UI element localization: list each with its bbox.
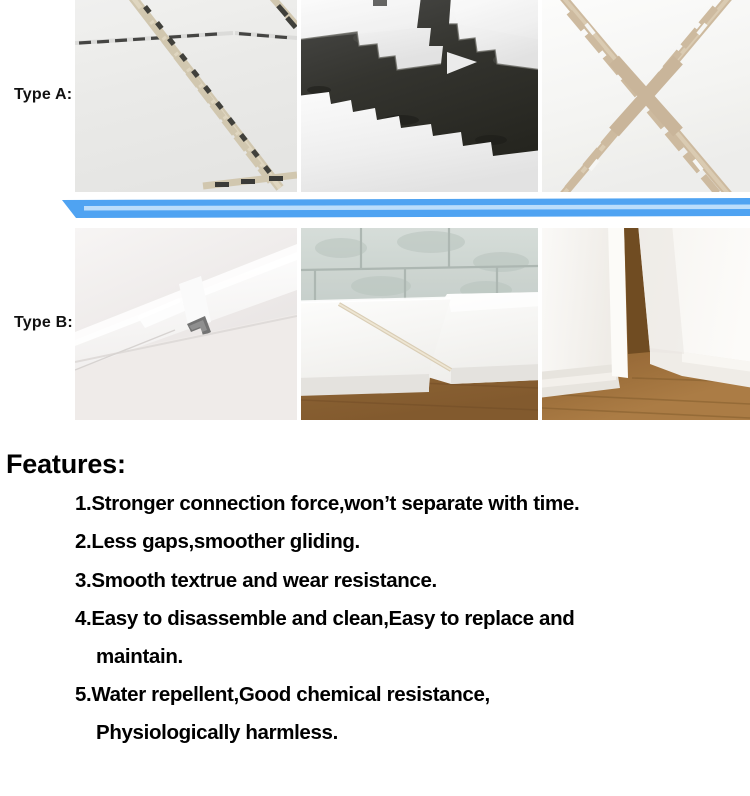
photo-type-a-1[interactable] — [75, 0, 297, 192]
gallery-row-type-a: Type A: — [0, 0, 750, 192]
feature-item-3-text: 3.Smooth textrue and wear resistance. — [75, 569, 437, 592]
feature-item-1-text: 1.Stronger connection force,won’t separa… — [75, 492, 579, 515]
feature-item-2-text: 2.Less gaps,smoother gliding. — [75, 530, 360, 553]
section-divider-bar — [62, 198, 750, 220]
features-heading: Features: — [0, 440, 750, 482]
row-label-type-b: Type B: — [14, 314, 73, 332]
feature-item-4: 4.Easy to disassemble and clean,Easy to … — [75, 609, 705, 667]
feature-item-5: 5.Water repellent,Good chemical resistan… — [75, 685, 705, 743]
photo-type-a-2[interactable] — [301, 0, 538, 192]
features-list: 1.Stronger connection force,won’t separa… — [0, 494, 750, 744]
row-label-type-a: Type A: — [14, 86, 72, 104]
feature-item-2: 2.Less gaps,smoother gliding. — [75, 532, 705, 553]
photo-type-b-3[interactable] — [542, 228, 750, 420]
photo-type-b-2[interactable] — [301, 228, 538, 420]
feature-item-3: 3.Smooth textrue and wear resistance. — [75, 571, 705, 592]
feature-item-4-text: 4.Easy to disassemble and clean,Easy to … — [75, 607, 574, 630]
photo-type-a-3[interactable] — [542, 0, 750, 192]
feature-item-5-continuation: Physiologically harmless. — [75, 723, 705, 744]
feature-item-5-text: 5.Water repellent,Good chemical resistan… — [75, 683, 490, 706]
feature-item-1: 1.Stronger connection force,won’t separa… — [75, 494, 705, 515]
feature-item-4-continuation: maintain. — [75, 647, 705, 668]
photo-type-b-1[interactable] — [75, 228, 297, 420]
gallery-row-type-b: Type B: — [0, 228, 750, 420]
features-section: Features: 1.Stronger connection force,wo… — [0, 440, 750, 761]
